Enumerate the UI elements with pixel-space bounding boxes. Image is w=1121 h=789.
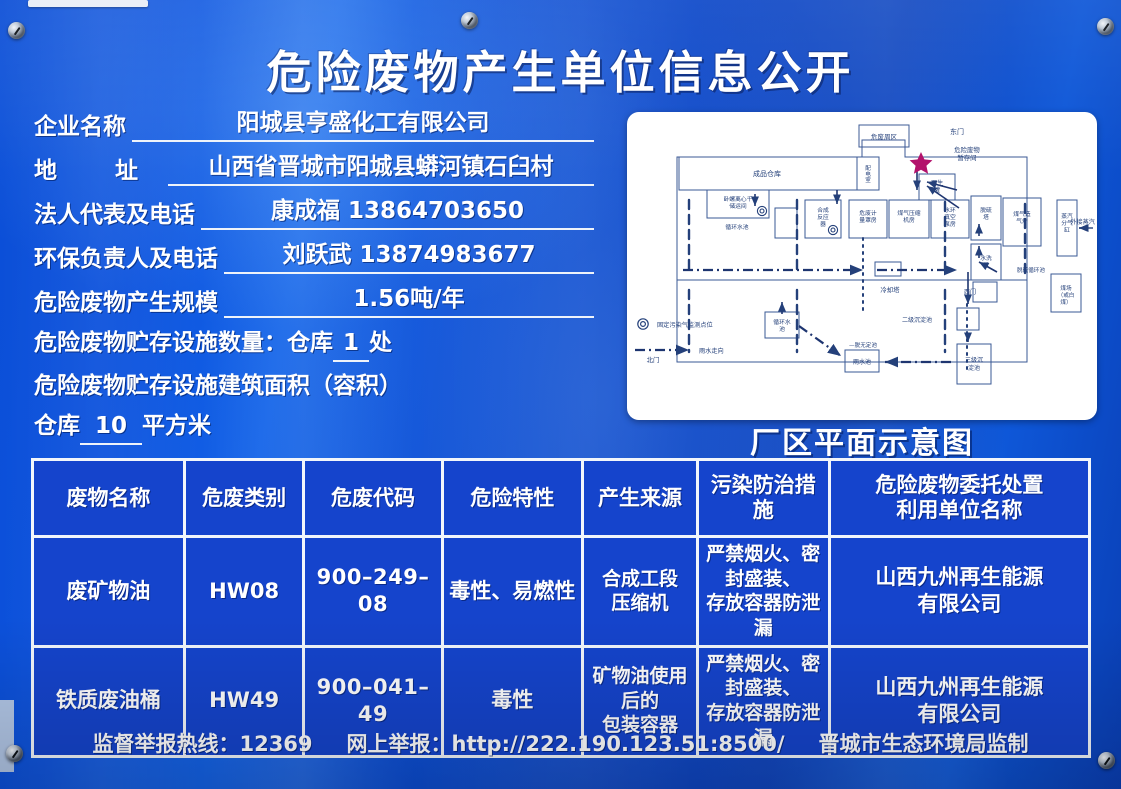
info-row-env: 环保负责人及电话 刘跃武 13874983677 (34, 240, 594, 274)
hazardous-waste-table: 废物名称 危废类别 危废代码 危险特性 产生来源 污染防治措施 危险废物委托处置… (31, 458, 1091, 758)
th-source: 产生来源 (583, 460, 698, 537)
cell-source: 合成工段 压缩机 (583, 537, 698, 647)
info-row-facility-count: 危险废物贮存设施数量：仓库1处 (34, 328, 594, 362)
table-row: 废矿物油 HW08 900–249–08 毒性、易燃性 合成工段 压缩机 严禁烟… (33, 537, 1090, 647)
th-waste-name: 废物名称 (33, 460, 185, 537)
th-entrusted-unit-text: 危险废物委托处置 利用单位名称 (875, 473, 1043, 522)
th-entrusted-unit: 危险废物委托处置 利用单位名称 (829, 460, 1089, 537)
map-label-desulfur-tower: 脱硫塔 (980, 206, 992, 221)
table-body: 废矿物油 HW08 900–249–08 毒性、易燃性 合成工段 压缩机 严禁烟… (33, 537, 1090, 757)
th-waste-category: 危废类别 (184, 460, 304, 537)
address-value: 山西省晋城市阳城县蟒河镇石臼村 (168, 152, 594, 186)
screw-icon-top-right (1097, 18, 1114, 35)
map-label-power-room: 配电室 (865, 165, 871, 184)
cell-prevention-measures: 严禁烟火、密封盛装、 存放容器防泄漏 (697, 537, 829, 647)
footer-bar: 监督举报热线：12369 网上举报：http://222.190.123.51:… (0, 728, 1121, 758)
generation-scale-label: 危险废物产生规模 (34, 288, 218, 318)
map-legend-text-0: 固定污染气监测点位 (657, 321, 713, 329)
map-label-centrifuge-room: 卧螺离心千储运间 (724, 195, 753, 210)
env-officer-value: 刘跃武 13874983677 (224, 240, 594, 274)
cell-waste-category: HW08 (184, 537, 304, 647)
generation-scale-value: 1.56吨/年 (224, 284, 594, 318)
storage-area-label: 危险废物贮存设施建筑面积（容积） (34, 371, 402, 402)
frame-strip-top (28, 0, 148, 7)
map-label-rain-pool: 雨水池 (853, 358, 871, 366)
map-label-synthesis-reactor: 合成反应器 (817, 206, 829, 228)
company-value: 阳城县亨盛化工有限公司 (132, 108, 594, 142)
storage-area-line: 仓库10平方米 (34, 411, 211, 445)
map-label-water-wash-tower: 水洗塔 (980, 254, 992, 269)
map-label-finished-warehouse: 成品仓库 (753, 169, 781, 178)
env-officer-label: 环保负责人及电话 (34, 244, 218, 274)
map-label-regen-tank: 再生罐 (931, 179, 943, 194)
map-label-gas-furnace: 煤气造气炉 (1013, 210, 1031, 225)
facility-count-suffix: 处 (369, 330, 392, 356)
facility-count-prefix: 危险废物贮存设施数量：仓库 (34, 330, 333, 356)
info-row-address: 地 址 山西省晋城市阳城县蟒河镇石臼村 (34, 152, 594, 186)
site-plan-caption: 厂区平面示意图 (627, 418, 1097, 462)
storage-area-prefix: 仓库 (34, 413, 80, 439)
cell-hazard-property: 毒性、易燃性 (442, 537, 583, 647)
map-label-external-steam: 外接蒸汽 (1070, 218, 1095, 226)
hazard-location-star-icon (910, 152, 933, 174)
info-row-area-value: 仓库10平方米 (34, 411, 594, 445)
footer-hotline: 监督举报热线：12369 (92, 728, 312, 758)
table-head: 废物名称 危废类别 危废代码 危险特性 产生来源 污染防治措施 危险废物委托处置… (33, 460, 1090, 537)
map-label-circulating-water-pool: 循环水池 (773, 318, 791, 333)
site-plan-map: 成品仓库 配电室 危废周区 东门 危险废物暂存间 再生罐 卧螺离心千储运间 循环… (627, 112, 1097, 420)
table-header-row: 废物名称 危废类别 危废代码 危险特性 产生来源 污染防治措施 危险废物委托处置… (33, 460, 1090, 537)
facility-count-value: 1 (333, 328, 369, 362)
site-plan-canvas: 成品仓库 配电室 危废周区 东门 危险废物暂存间 再生罐 卧螺离心千储运间 循环… (627, 112, 1097, 420)
legal-rep-label: 法人代表及电话 (34, 200, 195, 230)
map-label-circ-water-pool-small: 循环水池 (725, 223, 748, 231)
page-title: 危险废物产生单位信息公开 (0, 36, 1121, 101)
storage-area-value: 10 (80, 411, 142, 445)
legal-rep-value: 康成福 13864703650 (201, 196, 594, 230)
map-label-east-gate: 东门 (950, 127, 964, 136)
storage-area-suffix: 平方米 (142, 413, 211, 439)
cell-waste-code: 900–249–08 (304, 537, 442, 647)
map-label-secondary-sedimentation: 二级沉淀池 (902, 316, 932, 324)
map-label-cooling-tower: 冷却塔 (880, 285, 900, 294)
waste-table-container: 废物名称 危废类别 危废代码 危险特性 产生来源 污染防治措施 危险废物委托处置… (31, 458, 1091, 758)
map-legend-text-1: 雨水走向 (699, 347, 724, 355)
th-hazard-property: 危险特性 (442, 460, 583, 537)
info-row-legal: 法人代表及电话 康成福 13864703650 (34, 196, 594, 230)
info-row-scale: 危险废物产生规模 1.56吨/年 (34, 284, 594, 318)
address-label-char-2: 址 (115, 156, 138, 186)
information-board: 危险废物产生单位信息公开 企业名称 阳城县亨盛化工有限公司 地 址 山西省晋城市… (0, 0, 1121, 789)
th-waste-code: 危废代码 (304, 460, 442, 537)
address-label: 地 址 (34, 156, 162, 186)
th-prevention-measures: 污染防治措施 (697, 460, 829, 537)
map-label-north-gate: 北门 (647, 355, 660, 364)
map-label-desulfur-circ-pool: 脱硫循环池 (1017, 266, 1045, 274)
cell-entrusted-unit: 山西九州再生能源 有限公司 (829, 537, 1089, 647)
address-label-char-1: 地 (34, 156, 57, 186)
facility-count-line: 危险废物贮存设施数量：仓库1处 (34, 328, 392, 362)
footer-online-report[interactable]: 网上举报：http://222.190.123.51:8500/ (347, 728, 785, 758)
map-label-three-stage-septic: 三级沉淀池 (965, 356, 983, 372)
map-label-sedimentation-note: —脱无定池 (849, 341, 877, 349)
info-panel: 企业名称 阳城县亨盛化工有限公司 地 址 山西省晋城市阳城县蟒河镇石臼村 法人代… (34, 108, 594, 454)
screw-icon-top-center (461, 12, 478, 29)
map-label-coal-yard: 煤场（或白煤） (1058, 284, 1075, 306)
map-label-waste-gas-area: 危废周区 (871, 132, 898, 141)
map-label-hazard-storage: 危险废物暂存间 (954, 145, 980, 162)
map-label-west-gate: 西门 (964, 288, 976, 296)
map-label-gas-compressor-room: 煤气压缩机房 (897, 209, 920, 224)
map-label-water-ring-vacuum-pump: 水环真空泵房 (944, 206, 956, 228)
map-label-waste-meter-room: 危废计量罩房 (859, 209, 877, 224)
cell-waste-name: 废矿物油 (33, 537, 185, 647)
info-row-company: 企业名称 阳城县亨盛化工有限公司 (34, 108, 594, 142)
company-label: 企业名称 (34, 112, 126, 142)
site-plan-svg: 成品仓库 配电室 危废周区 东门 危险废物暂存间 再生罐 卧螺离心千储运间 循环… (627, 112, 1097, 420)
footer-authority: 晋城市生态环境局监制 (819, 728, 1029, 758)
info-row-area-label: 危险废物贮存设施建筑面积（容积） (34, 371, 594, 402)
